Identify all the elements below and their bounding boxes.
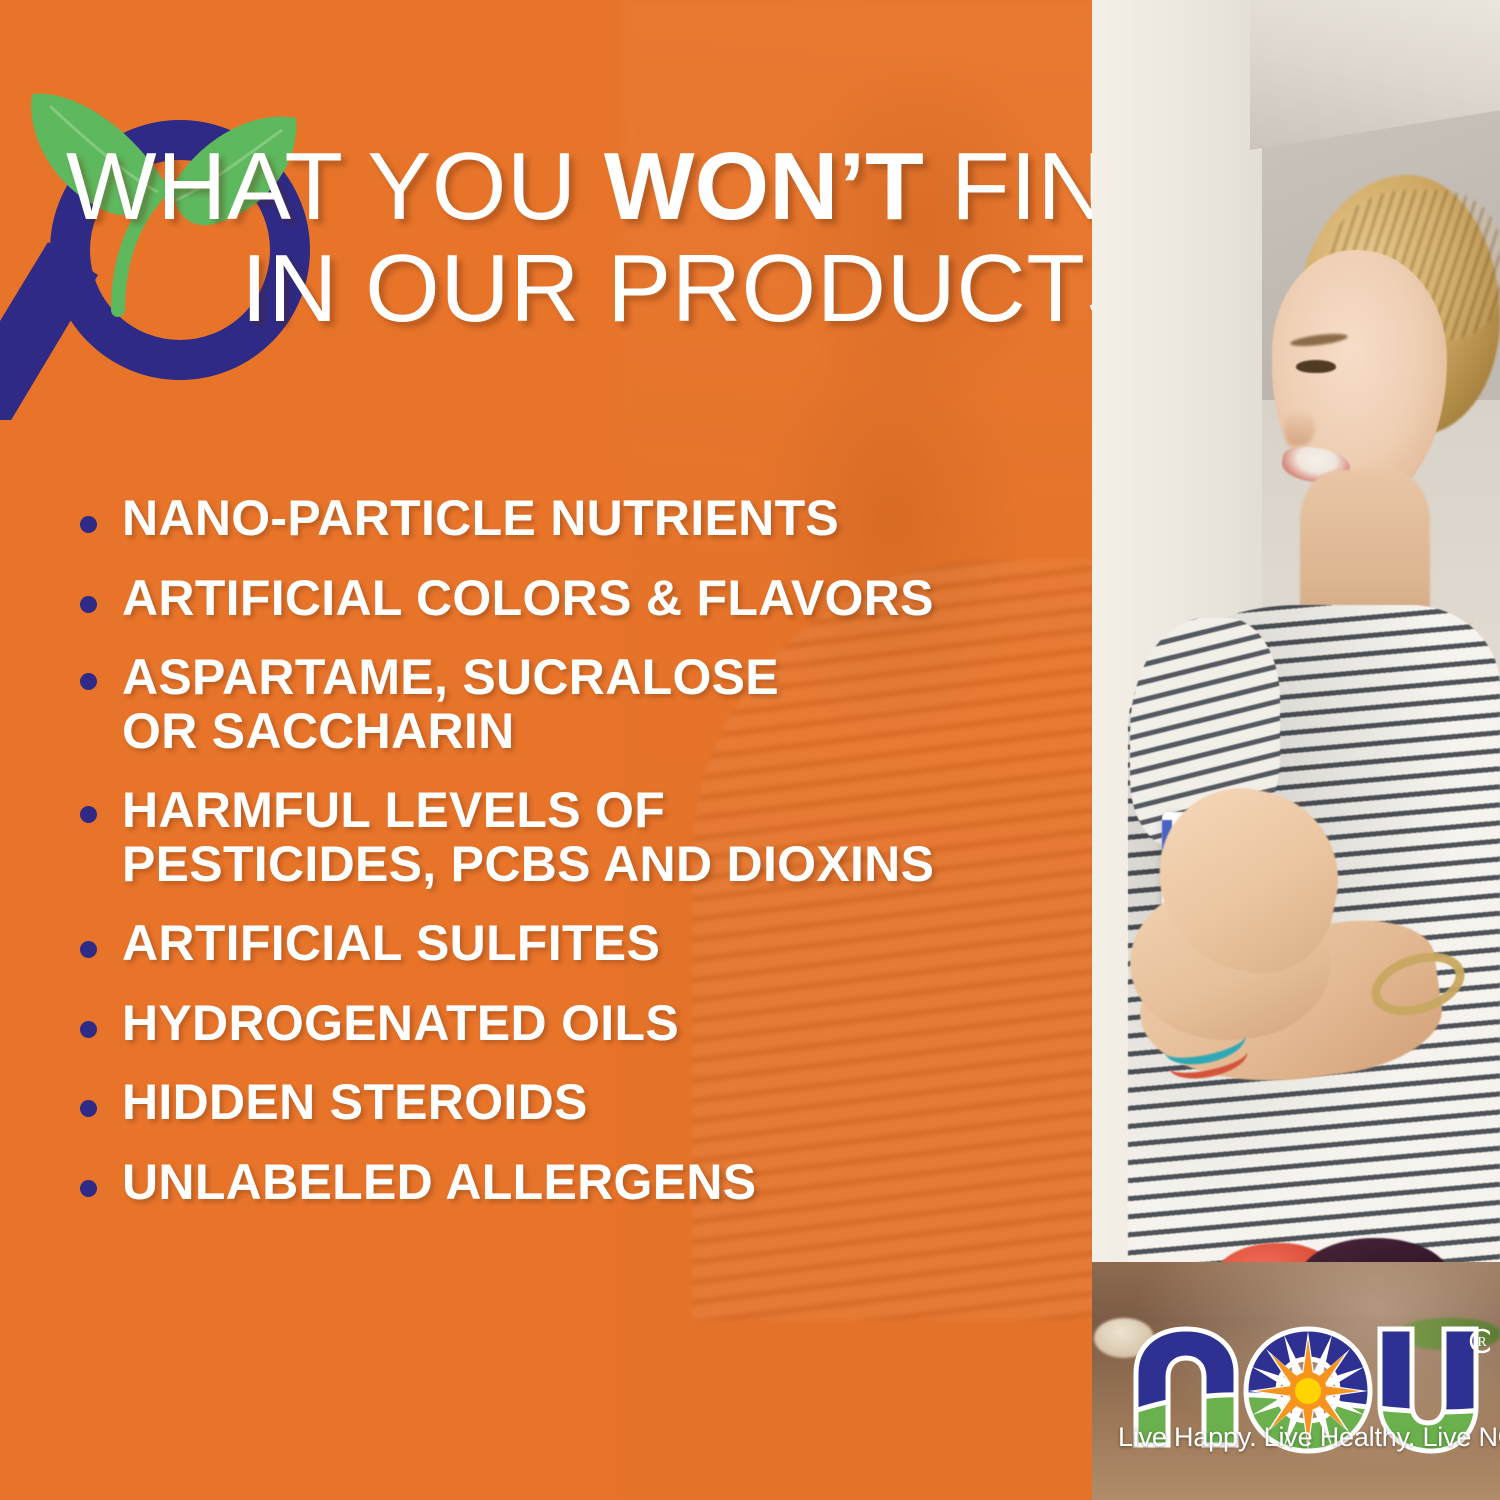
headline-line2: IN OUR PRODUCTS: [241, 242, 1092, 336]
headline-part1: WHAT YOU: [66, 133, 604, 240]
list-item: ARTIFICIAL COLORS & FLAVORS: [72, 572, 1082, 626]
brand-tagline: Live Happy. Live Healthy. Live NOW.: [1118, 1422, 1490, 1453]
list-item: HYDROGENATED OILS: [72, 997, 1082, 1051]
headline-part2: FIND: [924, 133, 1092, 240]
svg-text:R: R: [1477, 1335, 1487, 1350]
headline-emphasis: WON’T: [604, 133, 924, 240]
list-item: NANO-PARTICLE NUTRIENTS: [72, 492, 1082, 546]
woman-eye: [1296, 360, 1336, 373]
list-item: HARMFUL LEVELS OF PESTICIDES, PCBS AND D…: [72, 784, 1082, 891]
list-item-line1: NANO-PARTICLE NUTRIENTS: [122, 490, 839, 546]
list-item: UNLABELED ALLERGENS: [72, 1156, 1082, 1210]
list-item-line1: HIDDEN STEROIDS: [122, 1074, 588, 1130]
list-item-line2: OR SACCHARIN: [122, 705, 1082, 759]
list-item-line1: HYDROGENATED OILS: [122, 995, 679, 1051]
promo-poster: WHAT YOU WON’T FIND IN OUR PRODUCTS NANO…: [0, 0, 1500, 1500]
list-item-line1: UNLABELED ALLERGENS: [122, 1154, 756, 1210]
now-brand-logo: R: [1118, 1300, 1490, 1480]
list-item: ASPARTAME, SUCRALOSE OR SACCHARIN: [72, 651, 1082, 758]
list-item-line1: ARTIFICIAL SULFITES: [122, 915, 660, 971]
list-item: ARTIFICIAL SULFITES: [72, 917, 1082, 971]
excluded-ingredients-list: NANO-PARTICLE NUTRIENTS ARTIFICIAL COLOR…: [72, 492, 1082, 1235]
list-item-line2: PESTICIDES, PCBS AND DIOXINS: [122, 838, 1082, 892]
list-item-line1: ARTIFICIAL COLORS & FLAVORS: [122, 570, 934, 626]
orange-content-panel: WHAT YOU WON’T FIND IN OUR PRODUCTS NANO…: [0, 0, 1092, 1500]
list-item-line1: ASPARTAME, SUCRALOSE: [122, 649, 779, 705]
list-item: HIDDEN STEROIDS: [72, 1076, 1082, 1130]
list-item-line1: HARMFUL LEVELS OF: [122, 782, 665, 838]
page-title: WHAT YOU WON’T FIND IN OUR PRODUCTS: [66, 140, 1092, 336]
